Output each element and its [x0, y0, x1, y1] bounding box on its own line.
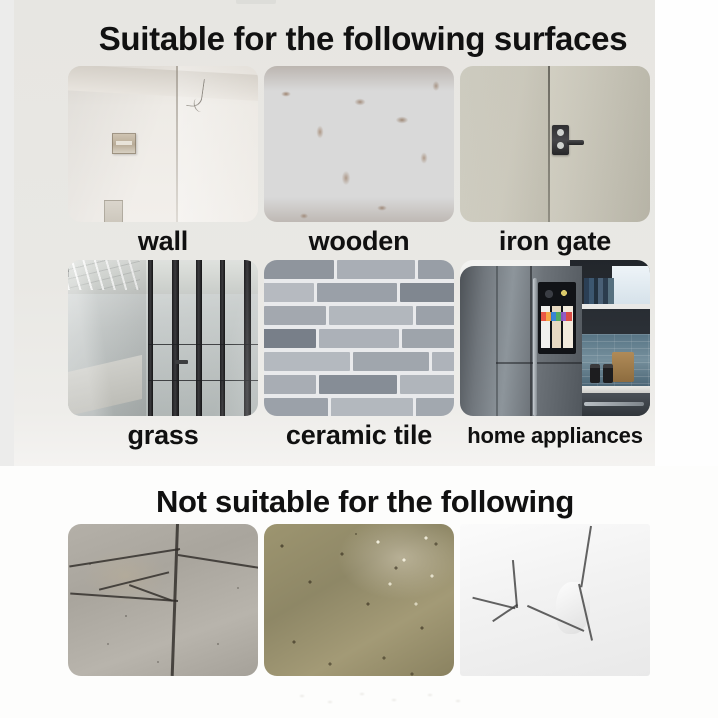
tile-course	[264, 398, 454, 416]
surface-label-glass: grass	[68, 420, 258, 451]
storage-jar	[603, 364, 613, 383]
kitchen-window	[612, 266, 650, 304]
storage-jar	[590, 364, 600, 383]
paint-crack	[512, 560, 518, 608]
glass-reflection	[68, 260, 258, 416]
surface-label-wall: wall	[68, 226, 258, 257]
surface-label-iron-gate: iron gate	[460, 226, 650, 257]
fridge-door-seam	[496, 266, 498, 416]
shelf-books	[584, 278, 614, 304]
kitchen-countertop	[578, 386, 650, 393]
unsuitable-image-peeling-paint	[460, 524, 650, 676]
surface-image-ceramic-tile	[264, 260, 454, 416]
fridge-door-seam	[496, 362, 582, 364]
surface-image-home-appliances	[460, 260, 650, 416]
grease-highlight	[360, 524, 454, 676]
tile-course	[264, 260, 454, 283]
screen-widgets	[543, 288, 571, 300]
wall-corner-edge	[176, 66, 178, 222]
iron-door-seam	[548, 66, 550, 222]
right-margin	[655, 0, 718, 466]
page-title-not-suitable: Not suitable for the following	[0, 484, 718, 520]
smart-refrigerator	[460, 266, 582, 416]
surface-label-home-appliances: home appliances	[456, 423, 654, 449]
fridge-handle-icon	[533, 278, 537, 416]
surface-image-glass	[68, 260, 258, 416]
page-title-suitable: Suitable for the following surfaces	[0, 20, 718, 58]
fridge-touchscreen	[538, 282, 576, 354]
wood-edge-shading	[264, 66, 454, 222]
surface-image-wall	[68, 66, 258, 222]
paint-crack	[472, 597, 515, 609]
tile-course	[264, 375, 454, 398]
unsuitable-image-cracked-concrete	[68, 524, 258, 676]
screen-app-icons	[541, 312, 572, 321]
tile-course	[264, 283, 454, 306]
left-edge-strip	[0, 0, 14, 466]
cutting-board	[612, 352, 634, 382]
unsuitable-image-dirty-surface	[264, 524, 454, 676]
iron-door-left-leaf	[460, 66, 548, 222]
paint-crack	[580, 526, 592, 588]
wall-outlet-box	[112, 133, 136, 154]
top-clipped-artifact	[236, 0, 276, 4]
tile-course	[264, 306, 454, 329]
infographic-page: Suitable for the following surfaces wall…	[0, 0, 718, 718]
surface-image-wooden	[264, 66, 454, 222]
fridge-door-seam	[530, 266, 532, 416]
tile-course	[264, 329, 454, 352]
surface-label-wooden: wooden	[264, 226, 454, 257]
door-handle-icon	[567, 140, 584, 145]
wall-switch-plate	[104, 200, 123, 222]
surface-label-ceramic-tile: ceramic tile	[264, 420, 454, 451]
tile-course	[264, 352, 454, 375]
oven-handle-icon	[584, 402, 644, 406]
bottom-clipped-artifact	[290, 690, 480, 708]
surface-image-iron-gate	[460, 66, 650, 222]
kitchen-shelf	[580, 304, 650, 309]
